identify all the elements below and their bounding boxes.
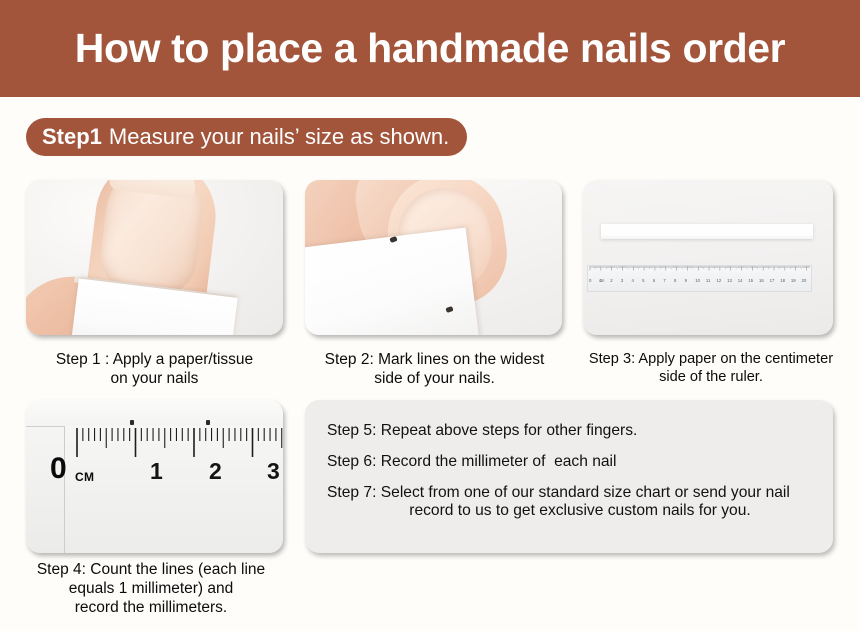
ruler-top-band xyxy=(26,400,283,427)
ruler-number-18: 18 xyxy=(779,276,790,286)
step1-badge-text: Measure your nails’ size as shown. xyxy=(109,124,449,150)
step1-badge-bold-label: Step1 xyxy=(42,124,102,150)
step7-text-block: Step 7: Select from one of our standard … xyxy=(327,484,811,520)
ruler-number-12: 12 xyxy=(716,276,727,286)
ruler-number-3: 3 xyxy=(620,276,631,286)
paper-strip-shape xyxy=(601,224,813,239)
ruler-number-20: 20 xyxy=(801,276,812,286)
ruler-mm-ticks-svg xyxy=(64,426,283,460)
step3-caption-line1: Step 3: Apply paper on the centimeter xyxy=(572,350,850,368)
step2-caption-line2: side of your nails. xyxy=(297,369,572,388)
ruler-number-19: 19 xyxy=(790,276,801,286)
step1-caption: Step 1 : Apply a paper/tissue on your na… xyxy=(12,350,297,388)
ruler-number-0: 0 xyxy=(588,276,599,286)
step3-caption: Step 3: Apply paper on the centimeter si… xyxy=(572,350,850,386)
step1-caption-line1: Step 1 : Apply a paper/tissue xyxy=(12,350,297,369)
ruler-closeup-photo: 1 2 3 0 CM xyxy=(26,400,283,553)
ruler-label-3: 3 xyxy=(267,458,280,485)
step4-image-card: 1 2 3 0 CM xyxy=(26,400,283,553)
ruler-number-15: 15 xyxy=(747,276,758,286)
ruler-label-1: 1 xyxy=(150,458,163,485)
photo-background xyxy=(583,180,833,335)
ruler-number-9: 9 xyxy=(684,276,695,286)
step7-text-continued: record to us to get exclusive custom nai… xyxy=(327,502,811,520)
step4-caption: Step 4: Count the lines (each line equal… xyxy=(12,560,290,618)
ruler-number-7: 7 xyxy=(662,276,673,286)
ruler-number-row: 01234567891011121314151617181920 xyxy=(588,276,811,286)
ruler-number-11: 11 xyxy=(705,276,716,286)
step2-image-card xyxy=(305,180,562,335)
step1-image-card xyxy=(26,180,283,335)
step4-caption-line2: equals 1 millimeter) and xyxy=(12,579,290,598)
header-banner: How to place a handmade nails order xyxy=(0,0,860,97)
step2-caption-line1: Step 2: Mark lines on the widest xyxy=(297,350,572,369)
step2-caption: Step 2: Mark lines on the widest side of… xyxy=(297,350,572,388)
ruler-number-2: 2 xyxy=(609,276,620,286)
ruler-zero-label: 0 xyxy=(50,452,67,486)
page-title: How to place a handmade nails order xyxy=(75,25,786,72)
ruler-ticks-svg xyxy=(588,266,811,275)
marking-paper-photo xyxy=(305,180,562,335)
step4-caption-line3: record the millimeters. xyxy=(12,598,290,617)
steps-5-7-panel: Step 5: Repeat above steps for other fin… xyxy=(305,400,833,553)
ruler-unit-label: cm xyxy=(599,276,604,286)
step1-caption-line2: on your nails xyxy=(12,369,297,388)
ruler-number-13: 13 xyxy=(726,276,737,286)
ruler-20cm-shape: 01234567891011121314151617181920 cm xyxy=(587,265,812,292)
step1-badge: Step1 Measure your nails’ size as shown. xyxy=(26,118,467,156)
ruler-cm-labels: 1 2 3 xyxy=(64,458,283,490)
finger-paper-photo xyxy=(26,180,283,335)
ruler-label-2: 2 xyxy=(209,458,222,485)
step5-text: Step 5: Repeat above steps for other fin… xyxy=(327,422,811,440)
step3-caption-line2: side of the ruler. xyxy=(572,368,850,386)
ruler-number-14: 14 xyxy=(737,276,748,286)
ruler-number-10: 10 xyxy=(694,276,705,286)
paper-on-ruler-photo: 01234567891011121314151617181920 cm xyxy=(583,180,833,335)
paper-strip-shape xyxy=(305,228,479,335)
ruler-number-17: 17 xyxy=(769,276,780,286)
mark-dot-right xyxy=(206,420,210,425)
step7-text: Step 7: Select from one of our standard … xyxy=(327,484,790,501)
ruler-unit-label: CM xyxy=(75,470,94,484)
ruler-number-5: 5 xyxy=(641,276,652,286)
ruler-number-16: 16 xyxy=(758,276,769,286)
step6-text: Step 6: Record the millimeter of each na… xyxy=(327,453,811,471)
ruler-number-8: 8 xyxy=(673,276,684,286)
step4-caption-line1: Step 4: Count the lines (each line xyxy=(12,560,290,579)
step3-image-card: 01234567891011121314151617181920 cm xyxy=(583,180,833,335)
ruler-number-6: 6 xyxy=(652,276,663,286)
mark-dot-left xyxy=(130,420,134,425)
ruler-number-4: 4 xyxy=(631,276,642,286)
